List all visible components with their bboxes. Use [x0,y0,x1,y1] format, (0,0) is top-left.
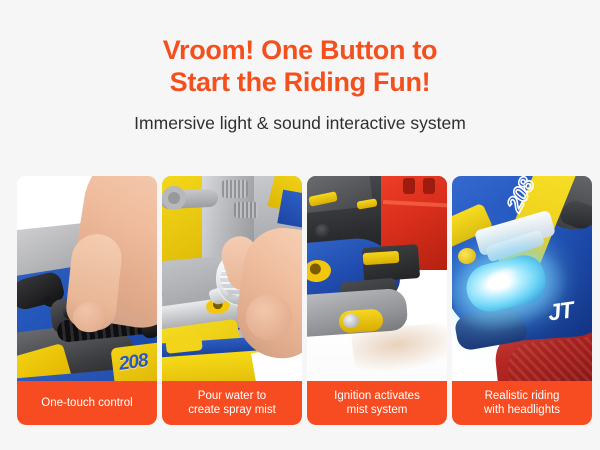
photo-realistic-headlights: 208 JT [452,176,592,381]
number-decal-208: 208 [118,350,149,376]
caption-line-1: Realistic riding [485,390,560,402]
yellow-dash-shape [363,251,400,265]
red-slot-left [403,178,415,194]
caption-line-2: with headlights [484,404,560,416]
caption-realistic-headlights: Realistic riding with headlights [452,381,592,425]
page-subtitle: Immersive light & sound interactive syst… [0,112,600,134]
knuckle-shape [246,294,292,340]
caption-pour-water: Pour water to create spray mist [162,381,302,425]
red-slot-right [423,178,435,194]
caption-line-1: Ignition activates [334,390,420,402]
photo-pour-water [162,176,302,381]
caption-line-2: mist system [347,404,408,416]
feature-panel-pour-water[interactable]: Pour water to create spray mist [162,176,302,425]
page-title: Vroom! One Button to Start the Riding Fu… [0,34,600,98]
headline-line-1: Vroom! One Button to [163,35,437,65]
feature-panel-one-touch-control[interactable]: 208 One-touch control [17,176,157,425]
photo-ignition-mist [307,176,447,381]
feature-panel-realistic-headlights[interactable]: 208 JT Realistic riding with headlights [452,176,592,425]
photo-one-touch-control: 208 [17,176,157,381]
promo-page: Vroom! One Button to Start the Riding Fu… [0,0,600,450]
feature-panel-grid: 208 One-touch control [17,176,583,425]
blue-top-right-shape [277,190,302,229]
arm-ring-shape [162,186,186,210]
header: Vroom! One Button to Start the Riding Fu… [0,0,600,134]
feature-panel-ignition-mist[interactable]: Ignition activates mist system [307,176,447,425]
headline-line-2: Start the Riding Fun! [0,66,600,98]
black-knob-shape [315,224,331,238]
caption-ignition-mist: Ignition activates mist system [307,381,447,425]
lower-decal-text: JT [546,296,574,326]
caption-one-touch-control: One-touch control [17,381,157,425]
caption-line-2: create spray mist [188,404,276,416]
caption-line-1: Pour water to [198,390,266,402]
vent-grille-upper [222,180,248,198]
vent-grille-lower [234,202,258,218]
